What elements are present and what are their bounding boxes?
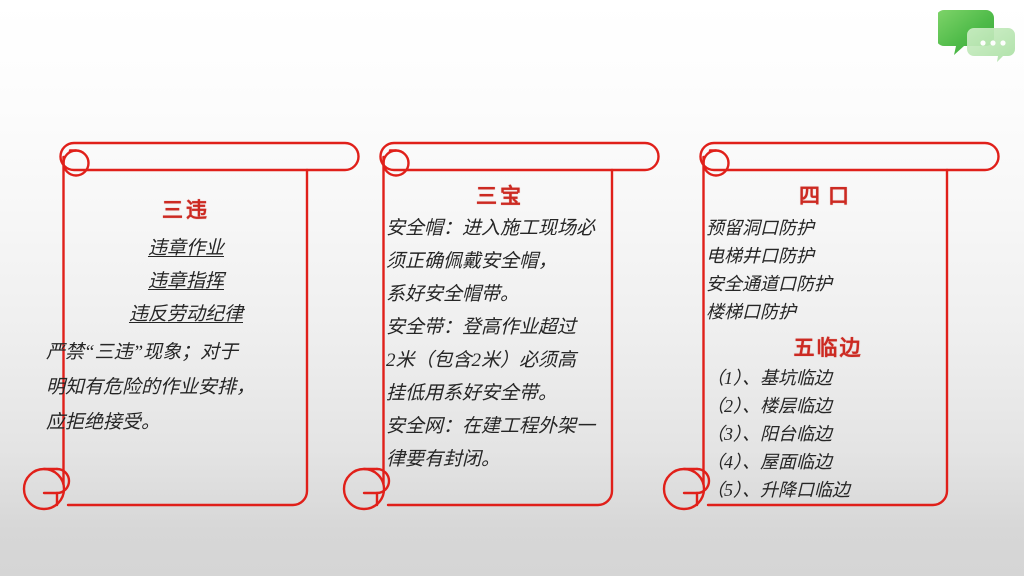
list-item: 违反劳动纪律 (66, 298, 306, 331)
scroll-panel-si-kou: 四口 预留洞口防护 电梯井口防护 安全通道口防护 楼梯口防护 五临边 （1）、基… (662, 136, 1002, 512)
list-item: 预留洞口防护 (706, 214, 950, 242)
chat-bubbles-icon (938, 4, 1018, 62)
panel-title-san-bao: 三宝 (386, 180, 614, 210)
panel-block-four-openings: 预留洞口防护 电梯井口防护 安全通道口防护 楼梯口防护 (706, 214, 950, 326)
panel-title-san-wei: 三违 (66, 194, 306, 224)
panel-block-five-edges: （1）、基坑临边 （2）、楼层临边 （3）、阳台临边 （4）、屋面临边 （5）、… (706, 364, 950, 504)
paragraph-line: 挂低用系好安全带。 (386, 377, 614, 410)
list-item: 安全通道口防护 (706, 270, 950, 298)
list-item: 楼梯口防护 (706, 298, 950, 326)
paragraph-line: 应拒绝接受。 (46, 405, 306, 440)
list-item: （2）、楼层临边 (706, 392, 950, 420)
list-item: 电梯井口防护 (706, 242, 950, 270)
list-item: （5）、升降口临边 (706, 476, 950, 504)
scroll-panel-san-bao: 三宝 安全帽：进入施工现场必 须正确佩戴安全帽， 系好安全帽带。 安全带：登高作… (342, 136, 662, 512)
list-item: （1）、基坑临边 (706, 364, 950, 392)
slide-canvas: 三违 违章作业 违章指挥 违反劳动纪律 严禁“三违”现象；对于 明知有危险的作业… (0, 0, 1024, 576)
paragraph-line: 严禁“三违”现象；对于 (46, 335, 306, 370)
panel-title-si-kou: 四口 (706, 180, 950, 210)
paragraph-line: 系好安全帽带。 (386, 278, 614, 311)
list-item: （4）、屋面临边 (706, 448, 950, 476)
paragraph-line: 律要有封闭。 (386, 443, 614, 476)
list-item: 违章指挥 (66, 265, 306, 298)
paragraph-line: 须正确佩戴安全帽， (386, 245, 614, 278)
panel-block-violations: 违章作业 违章指挥 违反劳动纪律 (66, 232, 306, 331)
paragraph-line: 安全带：登高作业超过 (386, 311, 614, 344)
paragraph-line: 安全网：在建工程外架一 (386, 410, 614, 443)
paragraph-line: 2米（包含2米）必须高 (386, 344, 614, 377)
scroll-panel-san-wei: 三违 违章作业 违章指挥 违反劳动纪律 严禁“三违”现象；对于 明知有危险的作业… (22, 136, 362, 512)
panel-subtitle-wu-lin-bian: 五临边 (706, 332, 950, 362)
paragraph-line: 明知有危险的作业安排， (46, 370, 306, 405)
panel-content-si-kou: 四口 预留洞口防护 电梯井口防护 安全通道口防护 楼梯口防护 五临边 （1）、基… (706, 172, 950, 498)
panel-block-warning: 严禁“三违”现象；对于 明知有危险的作业安排， 应拒绝接受。 (66, 335, 306, 440)
list-item: 违章作业 (66, 232, 306, 265)
panel-block-three-treasures: 安全帽：进入施工现场必 须正确佩戴安全帽， 系好安全帽带。 安全带：登高作业超过… (386, 212, 614, 476)
paragraph-line: 安全帽：进入施工现场必 (386, 212, 614, 245)
panel-content-san-bao: 三宝 安全帽：进入施工现场必 须正确佩戴安全帽， 系好安全帽带。 安全带：登高作… (386, 172, 614, 498)
list-item: （3）、阳台临边 (706, 420, 950, 448)
panel-content-san-wei: 三违 违章作业 违章指挥 违反劳动纪律 严禁“三违”现象；对于 明知有危险的作业… (66, 176, 306, 496)
